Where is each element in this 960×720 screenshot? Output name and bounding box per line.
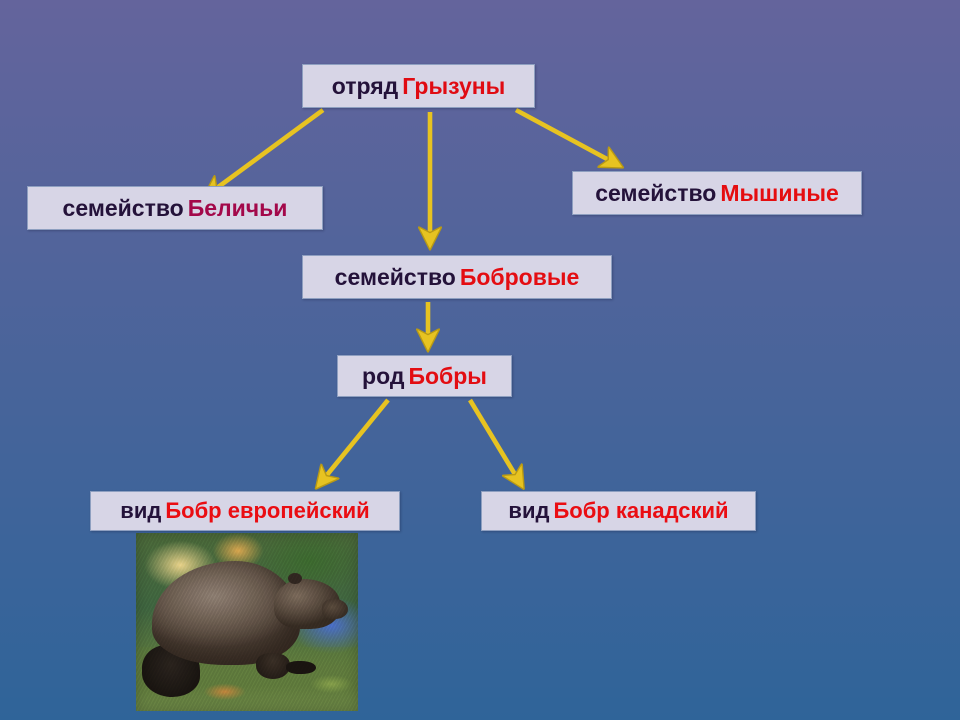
arrow-order-to-family-mouse (516, 110, 620, 166)
node-family-squirrel-rank: семейство (61, 197, 186, 220)
node-family-squirrel[interactable]: семейство Беличьи (27, 186, 323, 230)
node-genus-beaver[interactable]: род Бобры (337, 355, 512, 397)
node-species-european-taxon: Бобр европейский (163, 500, 371, 522)
node-family-mouse-taxon: Мышиные (718, 182, 840, 205)
node-family-squirrel-taxon: Беличьи (186, 197, 290, 220)
node-species-canadian-rank: вид (506, 500, 551, 522)
node-genus-beaver-rank: род (360, 365, 406, 388)
slide-canvas: отряд Грызуны семейство Беличьи семейств… (0, 0, 960, 720)
node-order-taxon: Грызуны (400, 75, 507, 98)
beaver-photograph (136, 533, 358, 711)
node-family-mouse-rank: семейство (593, 182, 718, 205)
node-family-mouse[interactable]: семейство Мышиные (572, 171, 862, 215)
photo-vignette (136, 533, 358, 711)
arrow-order-to-family-squirrel (206, 110, 323, 196)
arrow-genus-to-species-canadian (470, 400, 522, 486)
node-species-european-beaver[interactable]: вид Бобр европейский (90, 491, 400, 531)
node-species-canadian-taxon: Бобр канадский (551, 500, 730, 522)
node-order-rank: отряд (330, 75, 401, 98)
node-species-canadian-beaver[interactable]: вид Бобр канадский (481, 491, 756, 531)
node-species-european-rank: вид (118, 500, 163, 522)
node-genus-beaver-taxon: Бобры (406, 365, 488, 388)
node-family-beaver-taxon: Бобровые (458, 266, 581, 289)
node-order-rodents[interactable]: отряд Грызуны (302, 64, 535, 108)
node-family-beaver[interactable]: семейство Бобровые (302, 255, 612, 299)
arrow-genus-to-species-european (318, 400, 388, 486)
node-family-beaver-rank: семейство (333, 266, 458, 289)
